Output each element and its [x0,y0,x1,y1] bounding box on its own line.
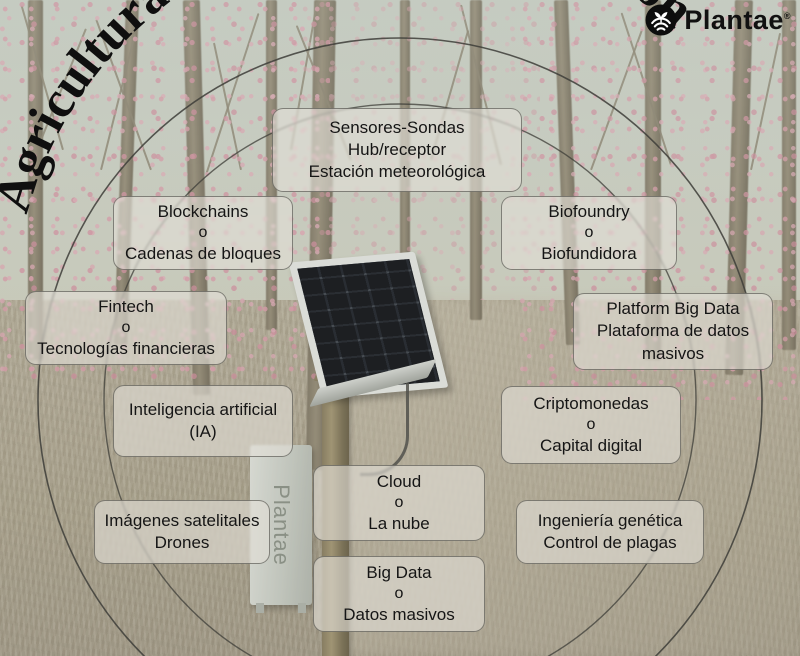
node-line: Cloud [377,471,421,493]
brand-name: Plantae [684,5,784,35]
node-line: Sensores-Sondas [329,117,464,139]
node-line: masivos [642,343,704,365]
node-sensores[interactable]: Sensores-Sondas Hub/receptor Estación me… [272,108,522,192]
node-line: Imágenes satelitales [105,510,260,532]
node-line: Criptomonedas [533,393,648,415]
node-biofoundry[interactable]: Biofoundry o Biofundidora [501,196,677,270]
node-line: Plataforma de datos [597,320,749,342]
node-line: Biofoundry [548,201,629,223]
node-platform-big-data[interactable]: Platform Big Data Plataforma de datos ma… [573,293,773,370]
node-line: (IA) [189,421,216,443]
node-line: o [585,223,594,244]
node-line: o [199,223,208,244]
node-inteligencia-artificial[interactable]: Inteligencia artificial (IA) [113,385,293,457]
node-line: Blockchains [158,201,249,223]
node-line: o [122,318,131,339]
node-line: Ingeniería genética [538,510,683,532]
brand-logo: Plantae® [645,4,791,36]
plantae-leaf-wifi-icon [645,4,677,36]
node-big-data[interactable]: Big Data o Datos masivos [313,556,485,632]
node-line: Estación meteorológica [309,161,486,183]
node-blockchains[interactable]: Blockchains o Cadenas de bloques [113,196,293,270]
node-line: Drones [155,532,210,554]
node-line: Big Data [366,562,431,584]
node-fintech[interactable]: Fintech o Tecnologías financieras [25,291,227,365]
node-imagenes-satelitales[interactable]: Imágenes satelitales Drones [94,500,270,564]
node-line: Cadenas de bloques [125,243,281,265]
node-line: o [395,493,404,514]
registered-mark: ® [784,11,791,21]
node-line: La nube [368,513,429,535]
node-line: Tecnologías financieras [37,338,215,360]
node-line: Hub/receptor [348,139,446,161]
brand-wordmark: Plantae® [684,5,791,36]
node-line: o [395,584,404,605]
node-line: Control de plagas [543,532,676,554]
infographic-canvas: Plantae Agricultura de Precisión y Nutri… [0,0,800,656]
node-line: Platform Big Data [606,298,739,320]
node-line: Capital digital [540,435,642,457]
node-criptomonedas[interactable]: Criptomonedas o Capital digital [501,386,681,464]
node-line: Biofundidora [541,243,636,265]
node-line: Fintech [98,296,154,318]
node-line: Inteligencia artificial [129,399,277,421]
node-ingenieria-genetica[interactable]: Ingeniería genética Control de plagas [516,500,704,564]
node-line: o [587,415,596,436]
node-cloud[interactable]: Cloud o La nube [313,465,485,541]
node-line: Datos masivos [343,604,454,626]
